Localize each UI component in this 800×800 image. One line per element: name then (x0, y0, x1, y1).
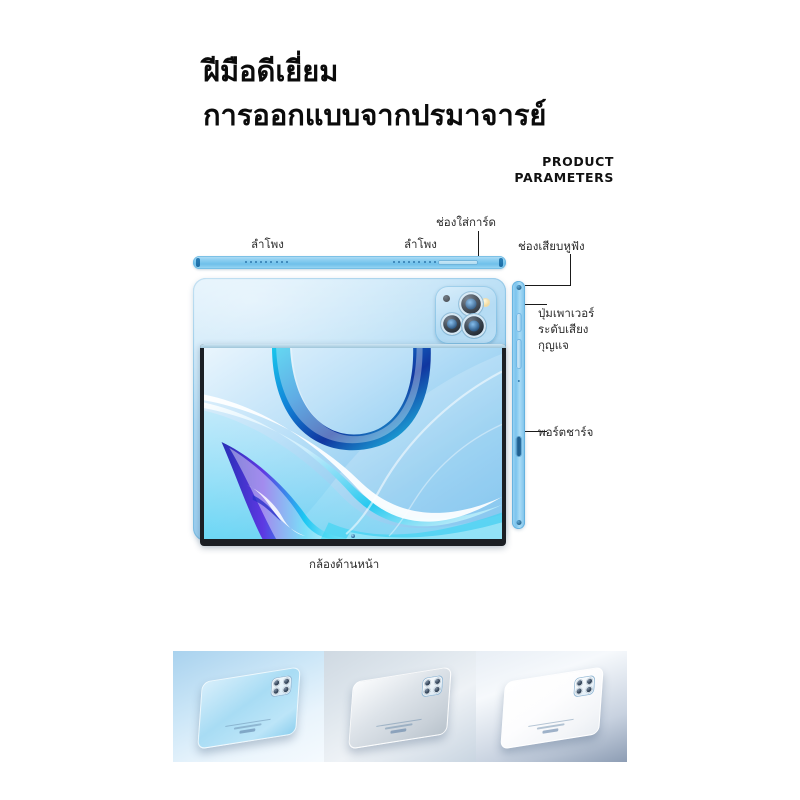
variant-panel-blue[interactable] (173, 651, 324, 762)
rear-camera-module (435, 286, 497, 344)
variant-camera-module-blue (270, 675, 292, 698)
front-camera-icon (351, 534, 355, 538)
section-label-product-parameters: PRODUCT PARAMETERS (514, 154, 614, 186)
callout-label-speaker-right: ลำโพง (404, 236, 437, 253)
variant-device-silver (349, 666, 452, 749)
camera-lens-2 (441, 313, 463, 335)
side-bottom-dot-icon (516, 520, 521, 525)
color-variant-gallery (173, 651, 627, 762)
product-infographic: ฝีมือดีเยี่ยม การออกแบบจากปรมาจารย์ PROD… (0, 0, 800, 800)
callout-label-speaker-left: ลำโพง (251, 236, 284, 253)
callout-label-card-slot: ช่องใส่การ์ด (436, 214, 496, 231)
speaker-grille-left (245, 261, 288, 263)
variant-panel-silver[interactable] (324, 651, 475, 762)
variant-camera-module-silver (422, 675, 444, 698)
variant-backplate-text-silver (376, 719, 422, 736)
tablet-side-profile (512, 281, 525, 529)
variant-device-blue (197, 666, 300, 749)
leader-line-headphone-jack-vertical (570, 254, 571, 285)
volume-rocker-icon (516, 339, 521, 369)
sensor-dot-icon (443, 295, 450, 302)
power-button-icon (516, 313, 521, 332)
variant-panel-white[interactable] (476, 651, 627, 762)
variant-backplate-text-blue (225, 719, 271, 736)
camera-lens-1 (459, 292, 483, 316)
headphone-jack-icon (516, 285, 521, 290)
headline-line-1: ฝีมือดีเยี่ยม (203, 52, 633, 90)
leader-line-headphone-jack-horizontal (525, 285, 571, 286)
callout-label-power-button: ปุ่มเพาเวอร์ (538, 305, 594, 322)
headline-line-2: การออกแบบจากปรมาจารย์ (203, 96, 633, 134)
edge-cap-left (196, 258, 200, 267)
variant-backplate-text-white (527, 719, 573, 736)
microphone-hole-icon (517, 380, 519, 382)
page-title: ฝีมือดีเยี่ยม การออกแบบจากปรมาจารย์ (203, 52, 633, 135)
card-slot-tray (438, 260, 478, 265)
callout-label-lock-key: กุญแจ (538, 337, 569, 354)
callout-label-headphone-jack: ช่องเสียบหูฟัง (518, 238, 585, 255)
leader-line-card-slot (478, 231, 479, 259)
tablet-top-edge (193, 256, 506, 269)
screen-wallpaper (204, 348, 502, 539)
leader-line-charging-port (525, 431, 547, 432)
camera-lens-3 (462, 314, 486, 338)
edge-cap-right (499, 258, 503, 267)
tablet-front-screen (200, 344, 506, 546)
speaker-grille-right (393, 261, 436, 263)
variant-camera-module-white (573, 675, 595, 698)
callout-label-front-camera: กล้องด้านหน้า (309, 556, 379, 573)
variant-device-white (500, 666, 603, 749)
charging-port-icon (515, 436, 522, 457)
leader-line-side-buttons (525, 304, 547, 305)
callout-label-volume: ระดับเสียง (538, 321, 588, 338)
section-label-line-1: PRODUCT (514, 154, 614, 170)
section-label-line-2: PARAMETERS (514, 170, 614, 186)
